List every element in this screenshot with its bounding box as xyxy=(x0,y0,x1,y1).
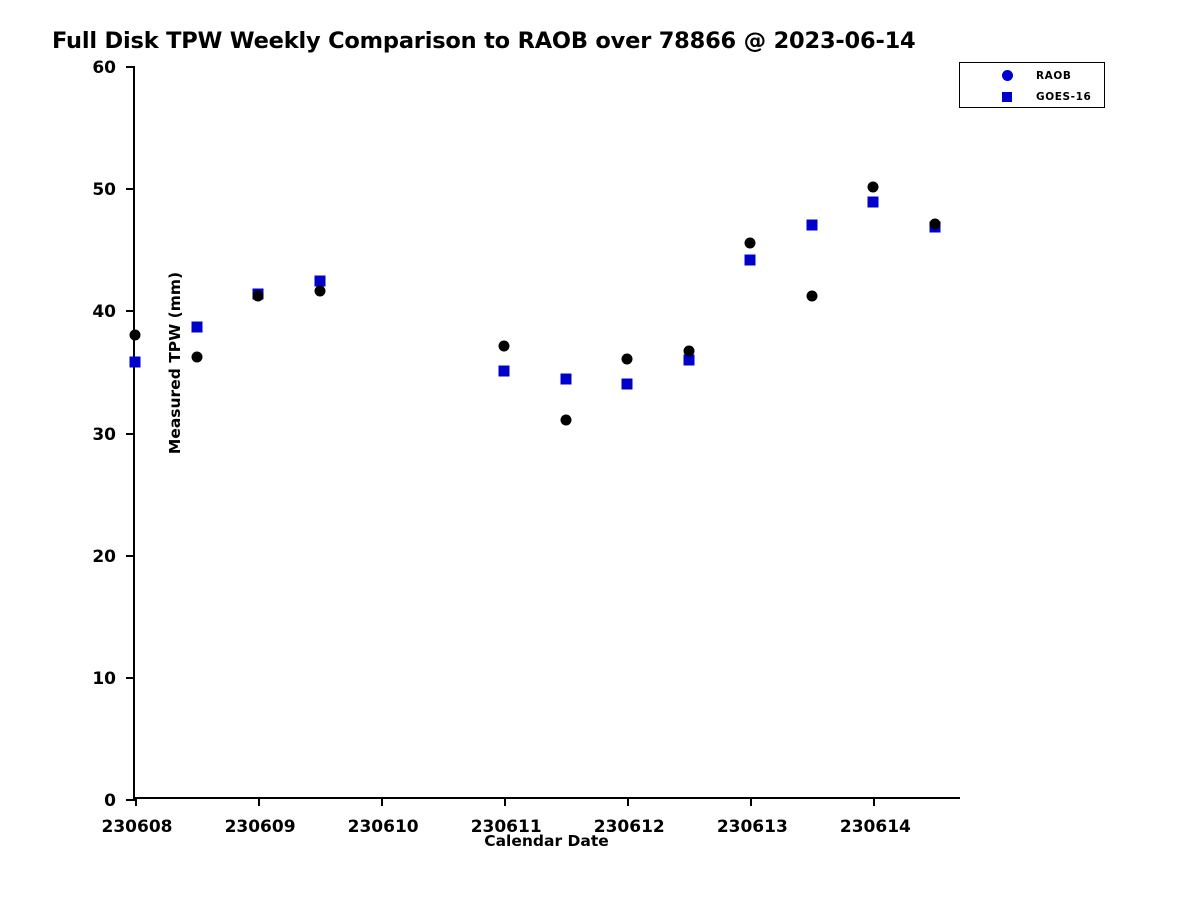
data-point-goes-16 xyxy=(560,373,571,384)
data-point-raob xyxy=(314,285,325,296)
legend-marker-circle-icon xyxy=(998,70,1016,81)
y-axis-tick-label: 0 xyxy=(104,791,116,811)
y-axis-tick: 0 xyxy=(126,799,135,801)
data-point-goes-16 xyxy=(745,255,756,266)
legend-item-raob: RAOB xyxy=(960,64,1104,87)
y-axis-tick: 50 xyxy=(126,188,135,190)
x-axis-label: Calendar Date xyxy=(133,832,960,850)
y-axis-tick: 30 xyxy=(126,433,135,435)
legend-marker-square-icon xyxy=(998,92,1016,102)
data-point-raob xyxy=(253,290,264,301)
y-axis-tick-label: 30 xyxy=(92,425,116,445)
data-point-raob xyxy=(806,290,817,301)
y-axis-tick-label: 20 xyxy=(92,547,116,567)
data-point-raob xyxy=(622,354,633,365)
data-point-goes-16 xyxy=(191,322,202,333)
y-axis-tick: 60 xyxy=(126,66,135,68)
data-point-raob xyxy=(929,218,940,229)
y-axis-tick: 20 xyxy=(126,555,135,557)
data-point-goes-16 xyxy=(868,196,879,207)
x-axis-tick: 230611 xyxy=(504,797,506,806)
legend-label-goes16: GOES-16 xyxy=(1036,91,1091,103)
y-axis-tick-label: 60 xyxy=(92,58,116,78)
data-point-goes-16 xyxy=(806,219,817,230)
data-point-raob xyxy=(130,329,141,340)
data-points-layer xyxy=(135,66,960,797)
plot-area: 0102030405060 23060823060923061023061123… xyxy=(133,66,960,799)
data-point-goes-16 xyxy=(683,355,694,366)
data-point-raob xyxy=(745,238,756,249)
x-axis-tick: 230613 xyxy=(750,797,752,806)
legend-label-raob: RAOB xyxy=(1036,70,1072,82)
data-point-goes-16 xyxy=(499,366,510,377)
data-point-goes-16 xyxy=(622,378,633,389)
y-axis-tick: 10 xyxy=(126,677,135,679)
y-axis-label: Measured TPW (mm) xyxy=(166,213,184,513)
y-axis-tick-label: 40 xyxy=(92,302,116,322)
x-axis-tick: 230608 xyxy=(135,797,137,806)
data-point-raob xyxy=(683,345,694,356)
data-point-raob xyxy=(191,351,202,362)
y-axis-tick-label: 50 xyxy=(92,180,116,200)
chart-title: Full Disk TPW Weekly Comparison to RAOB … xyxy=(52,28,916,54)
data-point-goes-16 xyxy=(130,356,141,367)
x-axis-tick: 230609 xyxy=(258,797,260,806)
data-point-raob xyxy=(868,181,879,192)
x-axis-tick: 230612 xyxy=(627,797,629,806)
data-point-raob xyxy=(560,415,571,426)
y-axis-tick: 40 xyxy=(126,310,135,312)
y-axis-tick-label: 10 xyxy=(92,669,116,689)
chart-figure: Full Disk TPW Weekly Comparison to RAOB … xyxy=(0,0,1200,900)
chart-legend: RAOB GOES-16 xyxy=(959,62,1105,108)
legend-item-goes16: GOES-16 xyxy=(960,85,1104,108)
x-axis-tick: 230614 xyxy=(873,797,875,806)
x-axis-tick: 230610 xyxy=(381,797,383,806)
data-point-raob xyxy=(499,340,510,351)
